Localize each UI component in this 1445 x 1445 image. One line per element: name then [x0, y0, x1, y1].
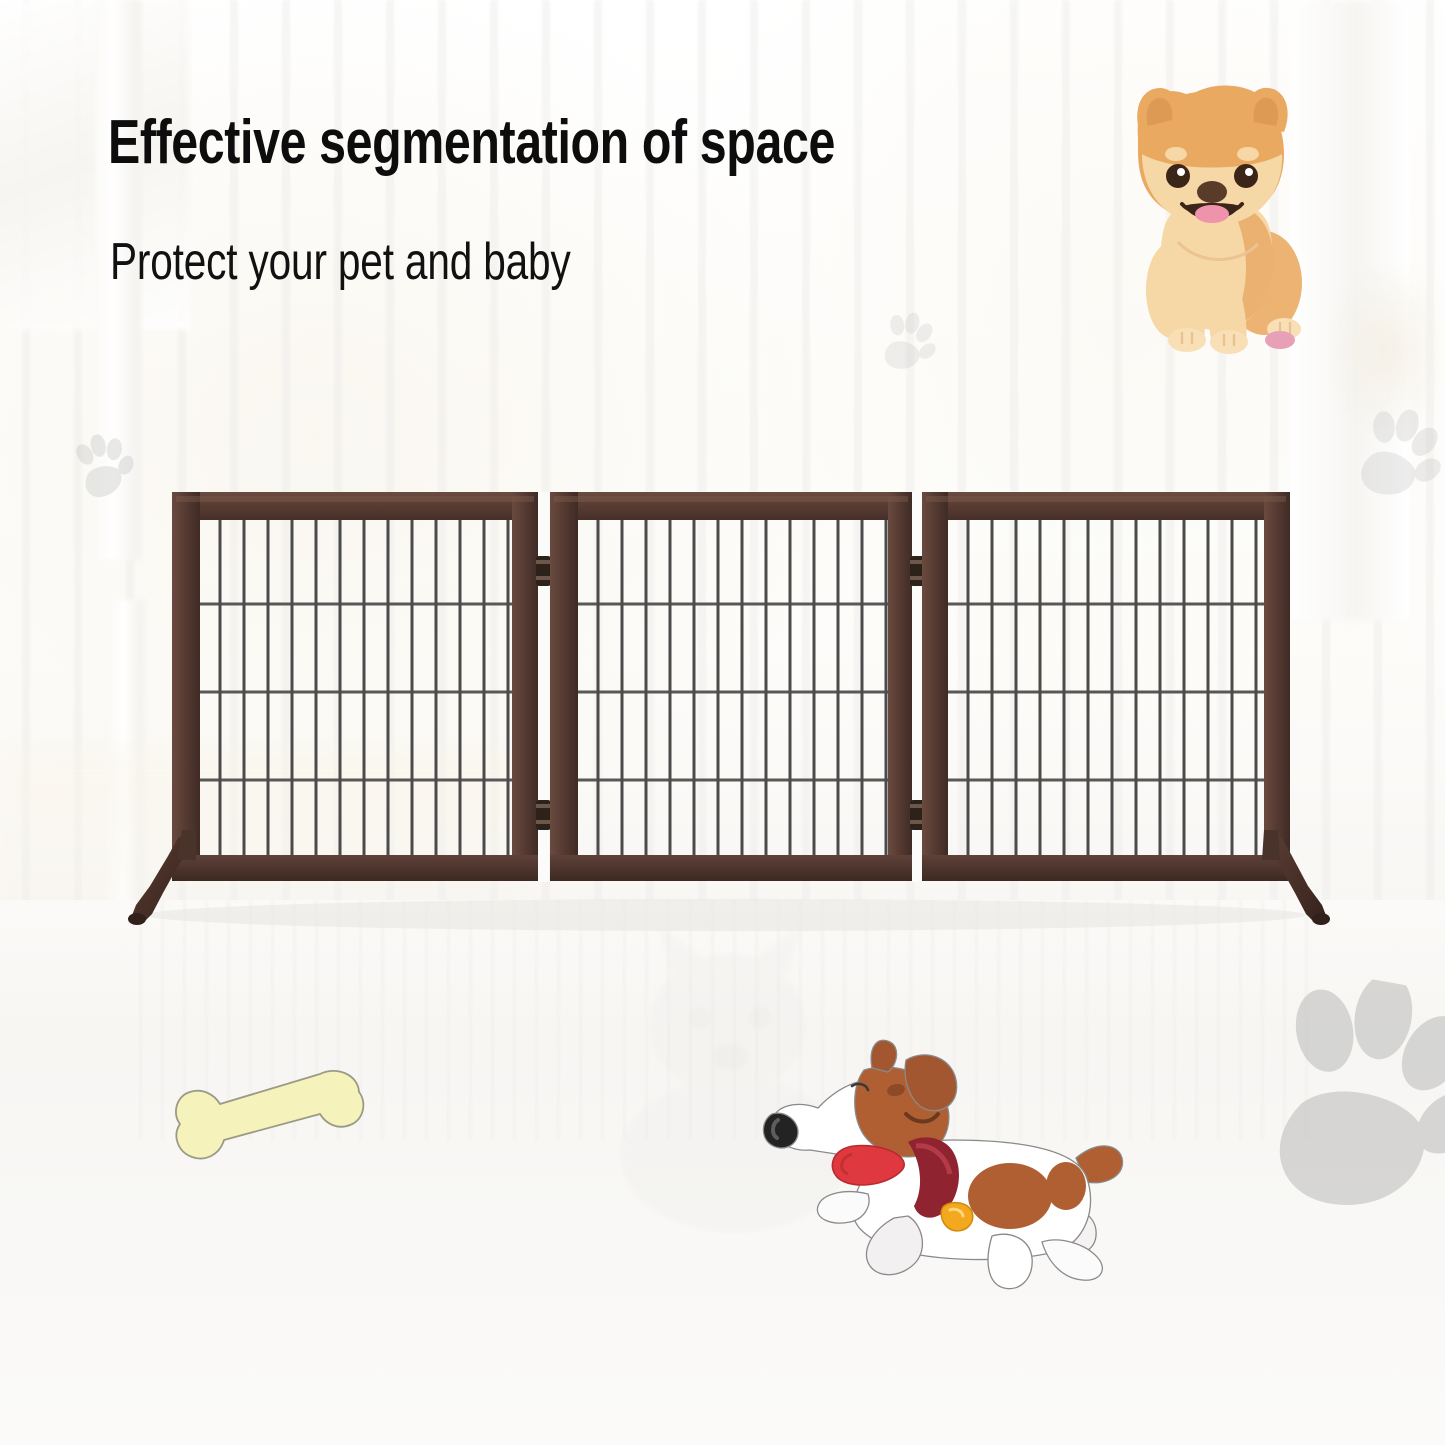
page-title: Effective segmentation of space: [108, 107, 835, 178]
page-subtitle: Protect your pet and baby: [110, 232, 571, 292]
gate-panel-right: [922, 492, 1290, 881]
shiba-puppy-illustration: [1112, 78, 1322, 360]
marketing-banner: Effective segmentation of space Protect …: [0, 0, 1445, 1445]
gate-hinge-left: [536, 492, 551, 882]
gate-panel-left: [172, 492, 538, 881]
gate-panel-center: [550, 492, 912, 881]
jack-russell-illustration: [756, 1036, 1136, 1311]
dog-bone-illustration: [162, 1064, 372, 1174]
